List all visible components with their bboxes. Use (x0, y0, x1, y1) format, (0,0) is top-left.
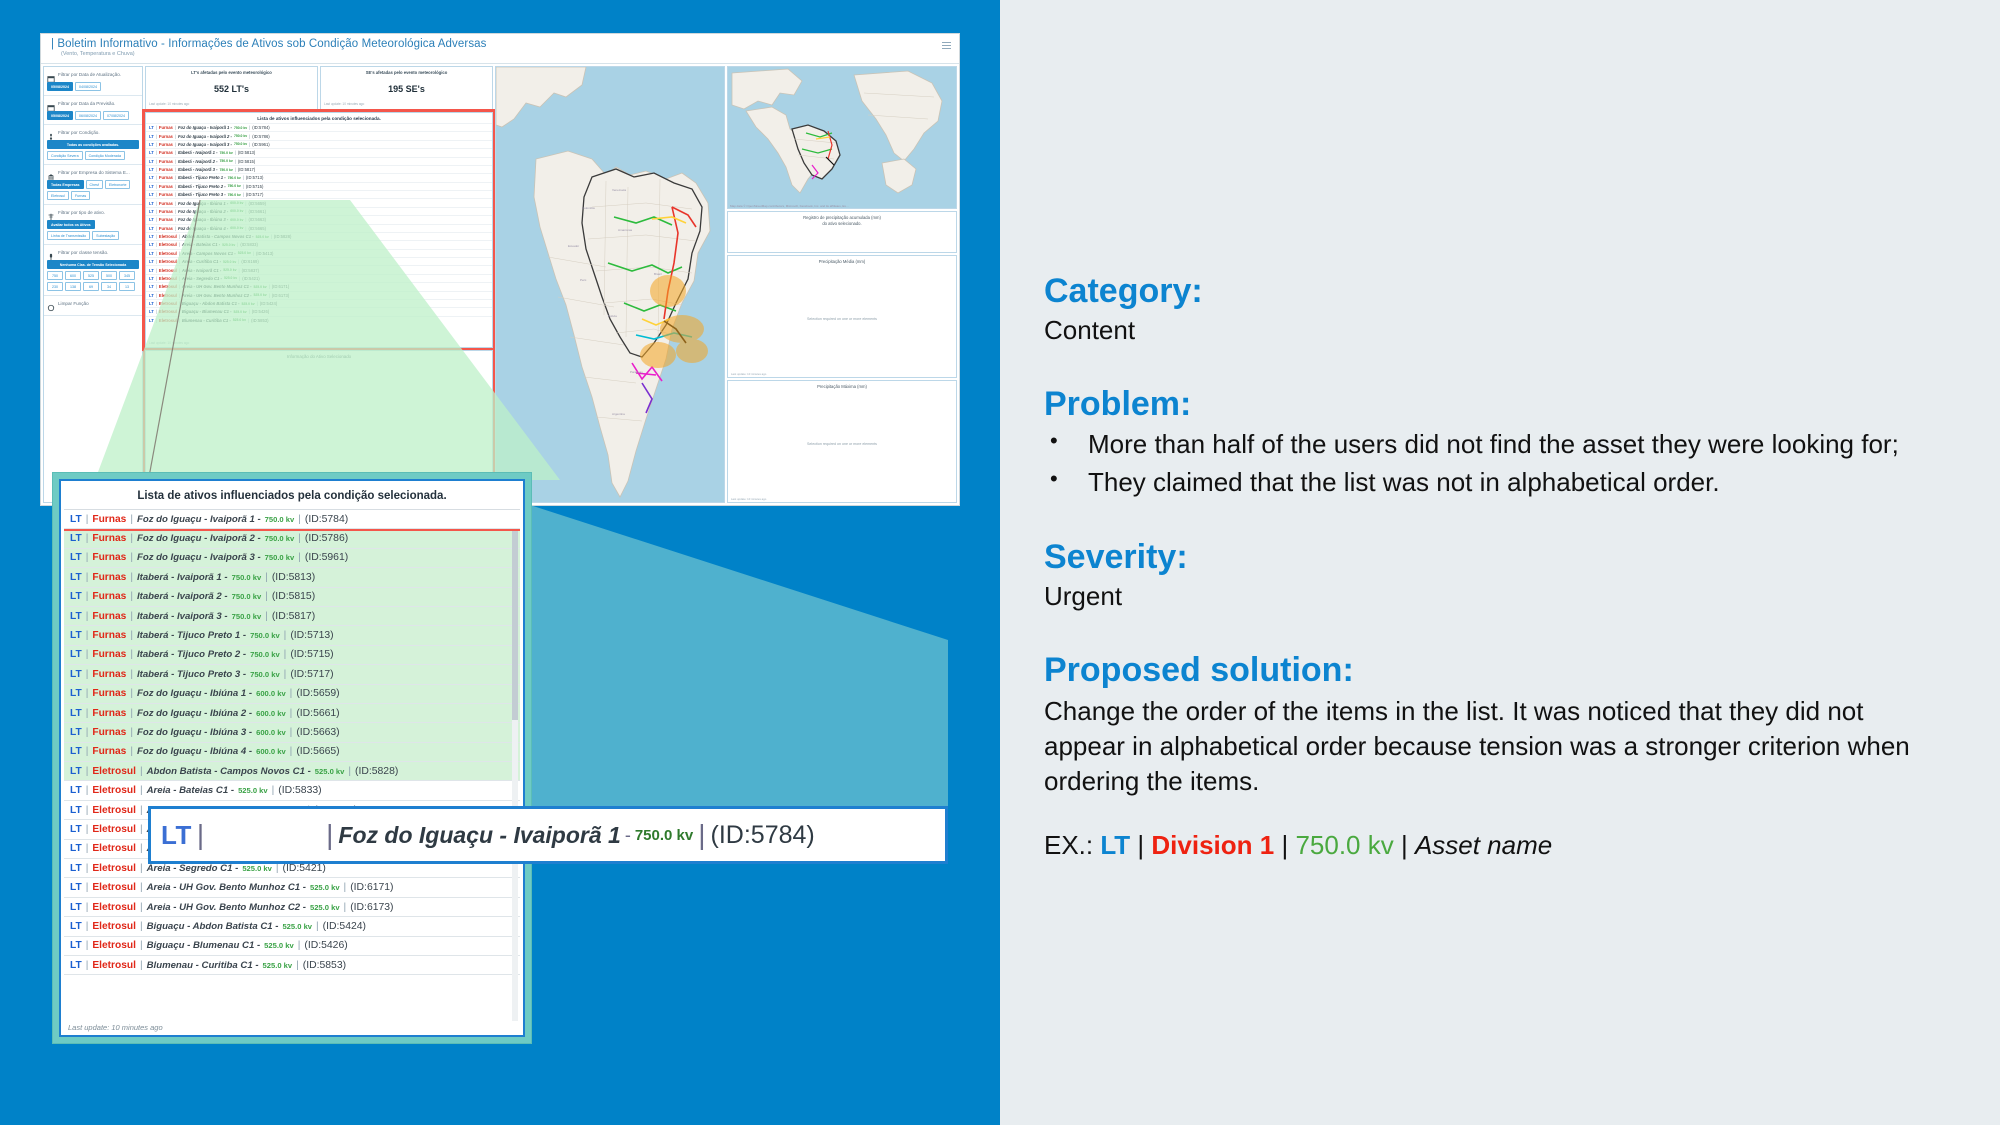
asset-id: (ID:5961) (252, 142, 269, 147)
asset-row[interactable]: LT|Furnas|Itaberá - Tijuco Preto 2 -750.… (64, 646, 520, 665)
asset-division: Furnas (159, 134, 173, 139)
asset-division: Furnas (92, 688, 126, 699)
row-separator: | (140, 960, 143, 971)
asset-type: LT (149, 217, 154, 222)
row-separator: | (86, 688, 89, 699)
asset-voltage: 750.0 kv (234, 134, 247, 138)
kpi-card-0: LT's afetadas pelo evento meteorológico5… (145, 66, 318, 110)
asset-division: Eletrosul (159, 259, 177, 264)
filter-label: Filtrar por tipo de ativo. (58, 210, 105, 215)
asset-name: Itaberá - Tijuco Preto 2 - (178, 184, 226, 189)
asset-voltage: 525.0 kv (253, 293, 266, 297)
precipitation-panel-footer: Last update: 10 minutes ago (731, 372, 766, 376)
row-separator: | (130, 669, 133, 680)
asset-voltage: 525.0 kv (242, 864, 272, 873)
asset-division: Eletrosul (159, 242, 177, 247)
asset-row[interactable]: LT|Eletrosul|Blumenau - Curitiba C1 -525… (146, 316, 492, 324)
severity-section: Severity: Urgent (1044, 538, 2000, 613)
svg-text:Colombia: Colombia (582, 206, 595, 210)
asset-type: LT (70, 572, 82, 583)
row-separator: | (86, 708, 89, 719)
row-separator: | (130, 514, 133, 525)
magnified-asset-list-card: Lista de ativos influenciados pela condi… (52, 472, 532, 1044)
filter-group-1: Filtrar por Data da Previsão.05/08/20240… (44, 96, 142, 125)
asset-type: LT (70, 843, 82, 854)
row-separator: | (86, 940, 89, 951)
row-separator: | (284, 669, 287, 680)
solution-body: Change the order of the items in the lis… (1044, 694, 1934, 800)
asset-row[interactable]: LT|Furnas|Foz do Iguaçu - Ibiúna 1 -600.… (146, 198, 492, 206)
asset-id: (ID:5717) (246, 192, 263, 197)
asset-id: (ID:5659) (296, 688, 339, 699)
asset-row[interactable]: LT|Eletrosul|Areia - UH Gov. Bento Munho… (64, 898, 520, 917)
row-separator: | (344, 902, 347, 913)
filter-chip-3-4[interactable]: Furnas (71, 191, 90, 200)
row-separator: | (271, 234, 272, 239)
asset-row[interactable]: LT|Furnas|Itaberá - Tijuco Preto 3 -750.… (64, 665, 520, 684)
row-separator: | (86, 669, 89, 680)
asset-row[interactable]: LT|Furnas|Foz do Iguaçu - Ibiúna 3 -600.… (146, 215, 492, 223)
calendar-icon (47, 70, 55, 79)
row-separator: | (276, 863, 279, 874)
asset-row[interactable]: LT|Furnas|Itaberá - Tijuco Preto 1 -750.… (146, 173, 492, 181)
row-separator: | (86, 824, 89, 835)
row-separator: | (175, 226, 176, 231)
asset-row[interactable]: LT|Furnas|Itaberá - Tijuco Preto 2 -750.… (146, 182, 492, 190)
filter-chip-1-1[interactable]: 06/08/2024 (75, 111, 101, 120)
filter-chip-5-3[interactable]: 525 (83, 271, 99, 280)
filter-chip-5-8[interactable]: 69 (83, 282, 99, 291)
asset-voltage: 750.0 kv (250, 631, 280, 640)
asset-id: (ID:5817) (238, 167, 255, 172)
filter-label: Limpar Função (58, 301, 89, 306)
asset-division: Furnas (159, 142, 173, 147)
asset-voltage: 525.0 kv (264, 941, 294, 950)
asset-type: LT (70, 611, 82, 622)
asset-name: Itaberá - Tijuco Preto 2 - (137, 649, 246, 660)
asset-voltage: 750.0 kv (250, 670, 280, 679)
asset-type: LT (70, 824, 82, 835)
asset-type: LT (149, 301, 154, 306)
asset-id: (ID:5813) (272, 572, 315, 583)
row-separator: | (179, 284, 180, 289)
asset-type: LT (149, 201, 154, 206)
filter-chip-2-2[interactable]: Condição Moderada (85, 151, 125, 160)
asset-type: LT (70, 552, 82, 563)
asset-list-panel: Lista de ativos influenciados pela condi… (145, 112, 493, 348)
asset-id: (ID:5833) (278, 785, 321, 796)
asset-name: Foz do Iguaçu - Ivaiporã 1 - (178, 125, 232, 130)
asset-name: Blumenau - Curitiba C1 - (147, 960, 259, 971)
asset-row[interactable]: LT|Eletrosul|Abdon Batista - Campos Novo… (146, 232, 492, 240)
row-separator: | (156, 242, 157, 247)
example-sep-2: | (1274, 830, 1295, 860)
asset-division: Eletrosul (92, 785, 136, 796)
asset-voltage: 750.0 kv (234, 142, 247, 146)
svg-text:Argentina: Argentina (612, 412, 625, 416)
asset-row[interactable]: LT|Furnas|Foz do Iguaçu - Ivaiporã 3 -75… (64, 549, 520, 568)
dashboard-titlebar: | Boletim Informativo - Informações de A… (41, 34, 959, 64)
hamburger-menu-icon[interactable] (942, 42, 951, 49)
asset-voltage: 750.0 kv (265, 553, 295, 562)
asset-voltage: 600.0 kv (230, 201, 243, 205)
filter-group-6: Limpar Função (44, 296, 142, 316)
asset-division: Furnas (92, 514, 126, 525)
precipitation-panel-0: Registro de precipitação acumulada (mm)d… (727, 211, 957, 253)
kpi-footer: Last update: 10 minutes ago (324, 102, 489, 106)
asset-type: LT (149, 309, 154, 314)
asset-id: (ID:5786) (305, 533, 348, 544)
asset-name: Areia - Campos Novos C1 - (182, 251, 236, 256)
filter-group-3: Filtrar por Empresa do Sistema E...Todas… (44, 165, 142, 205)
filter-chip-2-0[interactable]: Todas as condições avaliadas. (47, 140, 139, 149)
row-separator: | (235, 150, 236, 155)
asset-division: Furnas (159, 201, 173, 206)
asset-row[interactable]: LT|Eletrosul|Areia - Bateias C1 -525.0 k… (146, 240, 492, 248)
row-separator: | (86, 863, 89, 874)
row-separator: | (175, 125, 176, 130)
row-separator: | (156, 142, 157, 147)
asset-type: LT (70, 960, 82, 971)
asset-row[interactable]: LT|Furnas|Itaberá - Ivaiporã 1 -750.0 kv… (64, 568, 520, 587)
asset-name: Foz do Iguaçu - Ibiúna 3 - (137, 727, 252, 738)
asset-type: LT (149, 159, 154, 164)
row-separator: | (253, 251, 254, 256)
asset-division: Eletrosul (92, 863, 136, 874)
asset-id: (ID:5426) (304, 940, 347, 951)
kpi-footer: Last update: 10 minutes ago (149, 102, 314, 106)
asset-id: (ID:5661) (249, 209, 266, 214)
asset-name: Foz do Iguaçu - Ibiúna 3 - (178, 217, 228, 222)
asset-name: Areia - UH Gov. Bento Munhoz C1 - (147, 882, 306, 893)
row-separator: | (243, 192, 244, 197)
filter-chip-5-6[interactable]: 230 (47, 282, 63, 291)
example-asset-name: Asset name (1415, 830, 1552, 860)
asset-voltage: 750.0 kv (228, 193, 241, 197)
asset-name: Itaberá - Tijuco Preto 1 - (137, 630, 246, 641)
row-separator: | (179, 234, 180, 239)
asset-name: Areia - Ivaiporã C1 - (182, 268, 221, 273)
row-separator: | (156, 284, 157, 289)
filter-chip-1-0[interactable]: 05/08/2024 (47, 111, 73, 120)
row-separator: | (140, 843, 143, 854)
row-separator: | (156, 217, 157, 222)
asset-row[interactable]: LT|Furnas|Foz do Iguaçu - Ivaiporã 1 -75… (64, 510, 520, 529)
asset-name: Itaberá - Ivaiporã 1 - (178, 150, 218, 155)
asset-row[interactable]: LT|Eletrosul|Areia - Campos Novos C1 -52… (146, 249, 492, 257)
row-separator: | (265, 611, 268, 622)
kpi-card-1: SE's afetadas pelo evento meteorológico1… (320, 66, 493, 110)
asset-division: Furnas (159, 217, 173, 222)
asset-list-title: Lista de ativos influenciados pela condi… (146, 113, 492, 123)
asset-row[interactable]: LT|Furnas|Itaberá - Ivaiporã 1 -750.0 kv… (146, 148, 492, 156)
asset-type: LT (149, 125, 154, 130)
asset-division: Furnas (92, 552, 126, 563)
filter-chip-5-9[interactable]: 34 (101, 282, 117, 291)
asset-id: (ID:6171) (272, 284, 289, 289)
asset-row[interactable]: LT|Eletrosul|Blumenau - Curitiba C1 -525… (64, 956, 520, 975)
row-separator: | (179, 276, 180, 281)
list-scrollbar[interactable] (512, 510, 518, 1021)
overview-map[interactable]: Map data © OpenStreetMap contributors, M… (727, 66, 957, 209)
main-map-graphic: VenezuelaColombia EcuadorPerú AmazonasBr… (496, 67, 725, 503)
main-map[interactable]: VenezuelaColombia EcuadorPerú AmazonasBr… (495, 66, 725, 503)
filter-chip-3-1[interactable]: Chesf (86, 180, 103, 189)
row-separator: | (156, 125, 157, 130)
row-separator: | (156, 134, 157, 139)
row-separator: | (86, 746, 89, 757)
asset-division: Furnas (92, 572, 126, 583)
asset-division: Eletrosul (92, 921, 136, 932)
asset-row[interactable]: LT|Furnas|Itaberá - Ivaiporã 2 -750.0 kv… (146, 157, 492, 165)
asset-type: LT (70, 940, 82, 951)
row-separator: | (130, 533, 133, 544)
row-separator: | (243, 184, 244, 189)
asset-type: LT (70, 882, 82, 893)
row-separator: | (249, 125, 250, 130)
asset-row[interactable]: LT|Furnas|Itaberá - Tijuco Preto 1 -750.… (64, 626, 520, 645)
row-separator: | (86, 843, 89, 854)
asset-type: LT (70, 766, 82, 777)
asset-type: LT (149, 242, 154, 247)
asset-type: LT (149, 318, 154, 323)
filter-chip-5-2[interactable]: 600 (65, 271, 81, 280)
asset-name: Areia - UH Gov. Bento Munhoz C1 - (182, 284, 252, 289)
svg-text:Map data © OpenStreetMap contr: Map data © OpenStreetMap contributors, M… (730, 204, 849, 208)
asset-division: Furnas (92, 746, 126, 757)
svg-text:Venezuela: Venezuela (612, 188, 626, 192)
filter-chip-1-2[interactable]: 07/08/2024 (103, 111, 129, 120)
asset-id: (ID:5426) (252, 309, 269, 314)
asset-row[interactable]: LT|Eletrosul|Areia - Bateias C1 -525.0 k… (64, 781, 520, 800)
filter-chip-4-0[interactable]: Avaliar todos os Ativos (47, 220, 95, 229)
filter-label: Filtrar por classe tensão. (58, 250, 108, 255)
asset-division: Eletrosul (92, 766, 136, 777)
asset-division: Eletrosul (159, 301, 177, 306)
asset-type: LT (149, 226, 154, 231)
asset-type: LT (149, 175, 154, 180)
asset-row[interactable]: LT|Eletrosul|Areia - UH Gov. Bento Munho… (146, 291, 492, 299)
asset-division: Furnas (92, 649, 126, 660)
filter-chip-0-1[interactable]: 04/08/2024 (75, 82, 101, 91)
row-separator: | (284, 649, 287, 660)
row-separator: | (179, 318, 180, 323)
asset-row[interactable]: LT|Eletrosul|Areia - UH Gov. Bento Munho… (64, 878, 520, 897)
svg-text:Paraguay: Paraguay (630, 370, 643, 374)
precipitation-panel-title: Registro de precipitação acumulada (mm)d… (803, 215, 881, 226)
precipitation-panel-message: Selection required on one or more elemen… (807, 442, 877, 446)
asset-type: LT (149, 284, 154, 289)
asset-voltage: 525.0 kv (233, 310, 246, 314)
asset-row[interactable]: LT|Furnas|Itaberá - Ivaiporã 3 -750.0 kv… (64, 607, 520, 626)
filter-chip-5-0[interactable]: Nenhuma Clas. de Tensão Selecionada (47, 260, 139, 269)
row-separator: | (156, 318, 157, 323)
problem-heading: Problem: (1044, 385, 2000, 423)
callout-type: LT (161, 820, 192, 851)
kpi-row: LT's afetadas pelo evento meteorológico5… (145, 66, 493, 110)
asset-type: LT (70, 708, 82, 719)
asset-row[interactable]: LT|Eletrosul|Abdon Batista - Campos Novo… (64, 762, 520, 781)
asset-list-footer: Last update: 10 minutes ago (146, 341, 492, 347)
asset-row[interactable]: LT|Furnas|Foz do Iguaçu - Ibiúna 3 -600.… (64, 723, 520, 742)
filter-chip-4-1[interactable]: Linha de Transmissão (47, 231, 90, 240)
row-separator: | (156, 309, 157, 314)
asset-type: LT (149, 209, 154, 214)
asset-row[interactable]: LT|Furnas|Foz do Iguaçu - Ibiúna 2 -600.… (146, 207, 492, 215)
asset-division: Furnas (159, 184, 173, 189)
asset-type: LT (149, 251, 154, 256)
asset-name: Itaberá - Tijuco Preto 3 - (137, 669, 246, 680)
asset-row[interactable]: LT|Eletrosul|Areia - Segredo C1 -525.0 k… (146, 274, 492, 282)
asset-row[interactable]: LT|Eletrosul|Areia - Ivaiporã C1 -525.0 … (146, 265, 492, 273)
solution-heading: Proposed solution: (1044, 651, 2000, 689)
row-separator: | (316, 921, 319, 932)
asset-id: (ID:6173) (272, 293, 289, 298)
row-separator: | (175, 175, 176, 180)
asset-row[interactable]: LT|Eletrosul|Areia - Curitiba C1 -525.0 … (146, 257, 492, 265)
asset-voltage: 750.0 kv (234, 126, 247, 130)
asset-name: Areia - UH Gov. Bento Munhoz C2 - (147, 902, 306, 913)
filter-chip-4-2[interactable]: Subestação (92, 231, 119, 240)
asset-row[interactable]: LT|Furnas|Itaberá - Tijuco Preto 3 -750.… (146, 190, 492, 198)
row-separator: | (86, 902, 89, 913)
filter-chip-2-1[interactable]: Condição Severa (47, 151, 83, 160)
asset-id: (ID:5715) (246, 184, 263, 189)
filter-group-5: Filtrar por classe tensão.Nenhuma Clas. … (44, 245, 142, 296)
precipitation-panel-title: Precipitação Máxima (mm) (817, 384, 867, 390)
asset-division: Furnas (92, 669, 126, 680)
filter-chip-5-1[interactable]: 750 (47, 271, 63, 280)
dashboard-subtitle: (Vento, Temperatura e Chuva) (61, 51, 949, 57)
asset-name: Foz do Iguaçu - Ibiúna 1 - (137, 688, 252, 699)
row-separator: | (298, 533, 301, 544)
row-separator: | (179, 309, 180, 314)
row-separator: | (130, 630, 133, 641)
asset-name: Itaberá - Ivaiporã 2 - (178, 159, 218, 164)
row-separator: | (86, 960, 89, 971)
row-separator: | (140, 902, 143, 913)
callout-separator-3: | (698, 819, 705, 851)
filter-chip-5-7[interactable]: 138 (65, 282, 81, 291)
asset-division: Furnas (92, 708, 126, 719)
asset-row[interactable]: LT|Eletrosul|Biguaçu - Abdon Batista C1 … (64, 917, 520, 936)
asset-type: LT (149, 259, 154, 264)
row-separator: | (175, 184, 176, 189)
asset-voltage: 600.0 kv (256, 728, 286, 737)
asset-voltage: 750.0 kv (232, 573, 262, 582)
row-separator: | (238, 268, 239, 273)
asset-division: Furnas (92, 630, 126, 641)
asset-type: LT (70, 688, 82, 699)
filter-chip-3-0[interactable]: Todas Empresas (47, 180, 84, 189)
row-separator: | (245, 226, 246, 231)
asset-row[interactable]: LT|Furnas|Foz do Iguaçu - Ibiúna 2 -600.… (64, 704, 520, 723)
row-separator: | (175, 159, 176, 164)
asset-row[interactable]: LT|Furnas|Foz do Iguaçu - Ivaiporã 1 -75… (146, 123, 492, 131)
row-separator: | (156, 276, 157, 281)
row-separator: | (156, 293, 157, 298)
row-separator: | (156, 175, 157, 180)
row-separator: | (237, 242, 238, 247)
filter-chip-0-0[interactable]: 05/08/2024 (47, 82, 73, 91)
row-separator: | (140, 766, 143, 777)
asset-id: (ID:5961) (305, 552, 348, 563)
asset-row[interactable]: LT|Eletrosul|Biguaçu - Abdon Batista C1 … (146, 299, 492, 307)
dashboard-title: | Boletim Informativo - Informações de A… (51, 38, 949, 50)
svg-text:Brasil: Brasil (654, 272, 662, 276)
row-separator: | (235, 167, 236, 172)
asset-row[interactable]: LT|Eletrosul|Biguaçu - Blumenau C1 -525.… (64, 937, 520, 956)
row-separator: | (298, 940, 301, 951)
asset-row[interactable]: LT|Eletrosul|Biguaçu - Blumenau C1 -525.… (146, 307, 492, 315)
row-separator: | (156, 184, 157, 189)
asset-row[interactable]: LT|Furnas|Foz do Iguaçu - Ivaiporã 3 -75… (146, 140, 492, 148)
row-separator: | (298, 552, 301, 563)
row-separator: | (179, 251, 180, 256)
asset-name: Foz do Iguaçu - Ibiúna 2 - (178, 209, 228, 214)
asset-row[interactable]: LT|Furnas|Foz do Iguaçu - Ibiúna 1 -600.… (64, 685, 520, 704)
callout-dash: - (625, 825, 631, 846)
asset-division: Eletrosul (159, 268, 177, 273)
filter-chip-3-3[interactable]: Eletrosul (47, 191, 69, 200)
asset-row[interactable]: LT|Furnas|Itaberá - Ivaiporã 2 -750.0 kv… (64, 588, 520, 607)
asset-list-rows[interactable]: LT|Furnas|Foz do Iguaçu - Ivaiporã 1 -75… (146, 123, 492, 341)
asset-row[interactable]: LT|Furnas|Foz do Iguaçu - Ivaiporã 2 -75… (146, 131, 492, 139)
example-sep-3: | (1394, 830, 1415, 860)
asset-voltage: 525.0 kv (263, 961, 293, 970)
filter-chip-5-10[interactable]: 13 (119, 282, 135, 291)
asset-voltage: 750.0 kv (220, 159, 233, 163)
asset-row[interactable]: LT|Furnas|Foz do Iguaçu - Ibiúna 4 -600.… (64, 743, 520, 762)
solution-example: EX.: LT | Division 1 | 750.0 kv | Asset … (1044, 830, 2000, 861)
asset-name: Foz do Iguaçu - Ibiúna 4 - (178, 226, 228, 231)
filter-chip-5-4[interactable]: 500 (101, 271, 117, 280)
asset-row[interactable]: LT|Furnas|Itaberá - Ivaiporã 3 -750.0 kv… (146, 165, 492, 173)
asset-name: Foz do Iguaçu - Ibiúna 4 - (137, 746, 252, 757)
asset-id: (ID:5665) (249, 226, 266, 231)
filter-label: Filtrar por Data de Atualização. (58, 72, 121, 77)
filter-chip-3-2[interactable]: Eletronorte (105, 180, 131, 189)
asset-row[interactable]: LT|Furnas|Foz do Iguaçu - Ivaiporã 2 -75… (64, 529, 520, 548)
asset-voltage: 525.0 kv (222, 243, 235, 247)
asset-row[interactable]: LT|Eletrosul|Areia - UH Gov. Bento Munho… (146, 282, 492, 290)
asset-id: (ID:5784) (252, 125, 269, 130)
asset-name: Foz do Iguaçu - Ibiúna 1 - (178, 201, 228, 206)
asset-type: LT (149, 184, 154, 189)
row-separator: | (156, 167, 157, 172)
row-separator: | (245, 209, 246, 214)
asset-name: Itaberá - Ivaiporã 3 - (137, 611, 228, 622)
row-separator: | (86, 591, 89, 602)
asset-row[interactable]: LT|Furnas|Foz do Iguaçu - Ibiúna 4 -600.… (146, 224, 492, 232)
row-separator: | (130, 572, 133, 583)
row-separator: | (290, 708, 293, 719)
asset-voltage: 600.0 kv (256, 747, 286, 756)
asset-id: (ID:5813) (238, 150, 255, 155)
filter-chip-5-5[interactable]: 345 (119, 271, 135, 280)
row-separator: | (248, 318, 249, 323)
row-separator: | (257, 301, 258, 306)
asset-id: (ID:5421) (242, 276, 259, 281)
asset-name: Blumenau - Curitiba C1 - (182, 318, 231, 323)
row-separator: | (348, 766, 351, 777)
category-heading: Category: (1044, 272, 2000, 310)
magnified-list-rows[interactable]: LT|Furnas|Foz do Iguaçu - Ivaiporã 1 -75… (64, 509, 520, 1021)
asset-voltage: 750.0 kv (250, 650, 280, 659)
asset-id: (ID:5837) (242, 268, 259, 273)
asset-id: (ID:5817) (272, 611, 315, 622)
row-separator: | (235, 159, 236, 164)
